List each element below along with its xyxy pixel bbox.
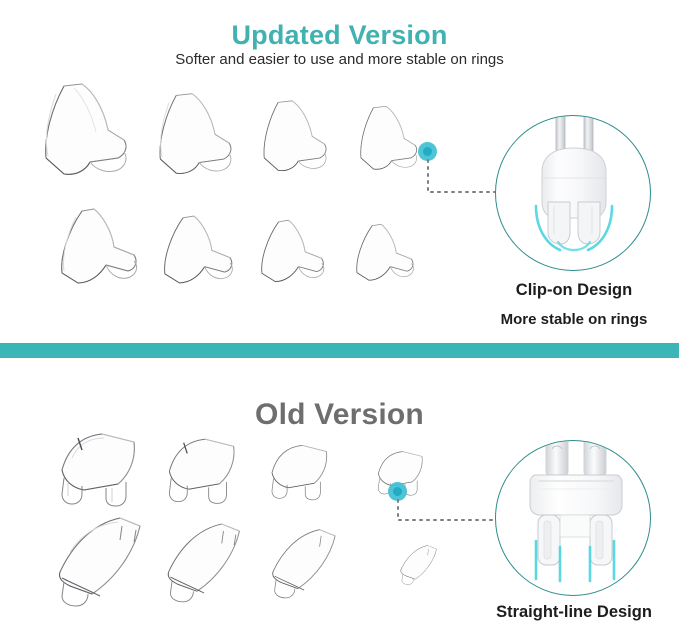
old-products-row-1 (48, 432, 442, 508)
clip-on-design-circle (495, 115, 651, 271)
updated-products-row-2 (52, 205, 438, 291)
ring-guard-narrow-m (248, 205, 346, 291)
old-guard-narrow-m (266, 512, 362, 610)
old-guard-narrow-l (164, 512, 264, 610)
clip-on-design-callout: Clip-on Design More stable on rings (495, 115, 651, 271)
highlight-dot-core-icon (423, 147, 432, 156)
clip-on-design-sublabel: More stable on rings (479, 311, 669, 328)
old-guard-wide-l (154, 432, 250, 508)
old-version-title: Old Version (0, 398, 679, 432)
straight-line-pad-icon (496, 441, 651, 596)
clip-on-pad-icon (496, 116, 651, 271)
updated-version-subtitle: Softer and easier to use and more stable… (0, 51, 679, 68)
clip-on-design-label: Clip-on Design (479, 281, 669, 300)
old-guard-wide-m (256, 432, 346, 508)
updated-version-title: Updated Version (0, 20, 679, 51)
ring-guard-wide-l (144, 78, 256, 188)
old-guard-wide-xl (48, 432, 148, 508)
section-divider-bar (0, 343, 679, 358)
highlight-dot-core-icon (393, 487, 402, 496)
straight-line-design-label: Straight-line Design (479, 603, 669, 622)
ring-guard-wide-m (246, 78, 352, 188)
straight-line-design-callout: Straight-line Design (495, 440, 651, 596)
ring-guard-wide-xl (34, 78, 152, 188)
old-guard-narrow-xl (58, 512, 162, 610)
updated-products-row-1 (34, 78, 446, 188)
ring-guard-narrow-xl (52, 205, 156, 291)
updated-version-section: Updated Version Softer and easier to use… (0, 0, 679, 343)
straight-line-design-circle (495, 440, 651, 596)
ring-guard-narrow-l (152, 205, 252, 291)
